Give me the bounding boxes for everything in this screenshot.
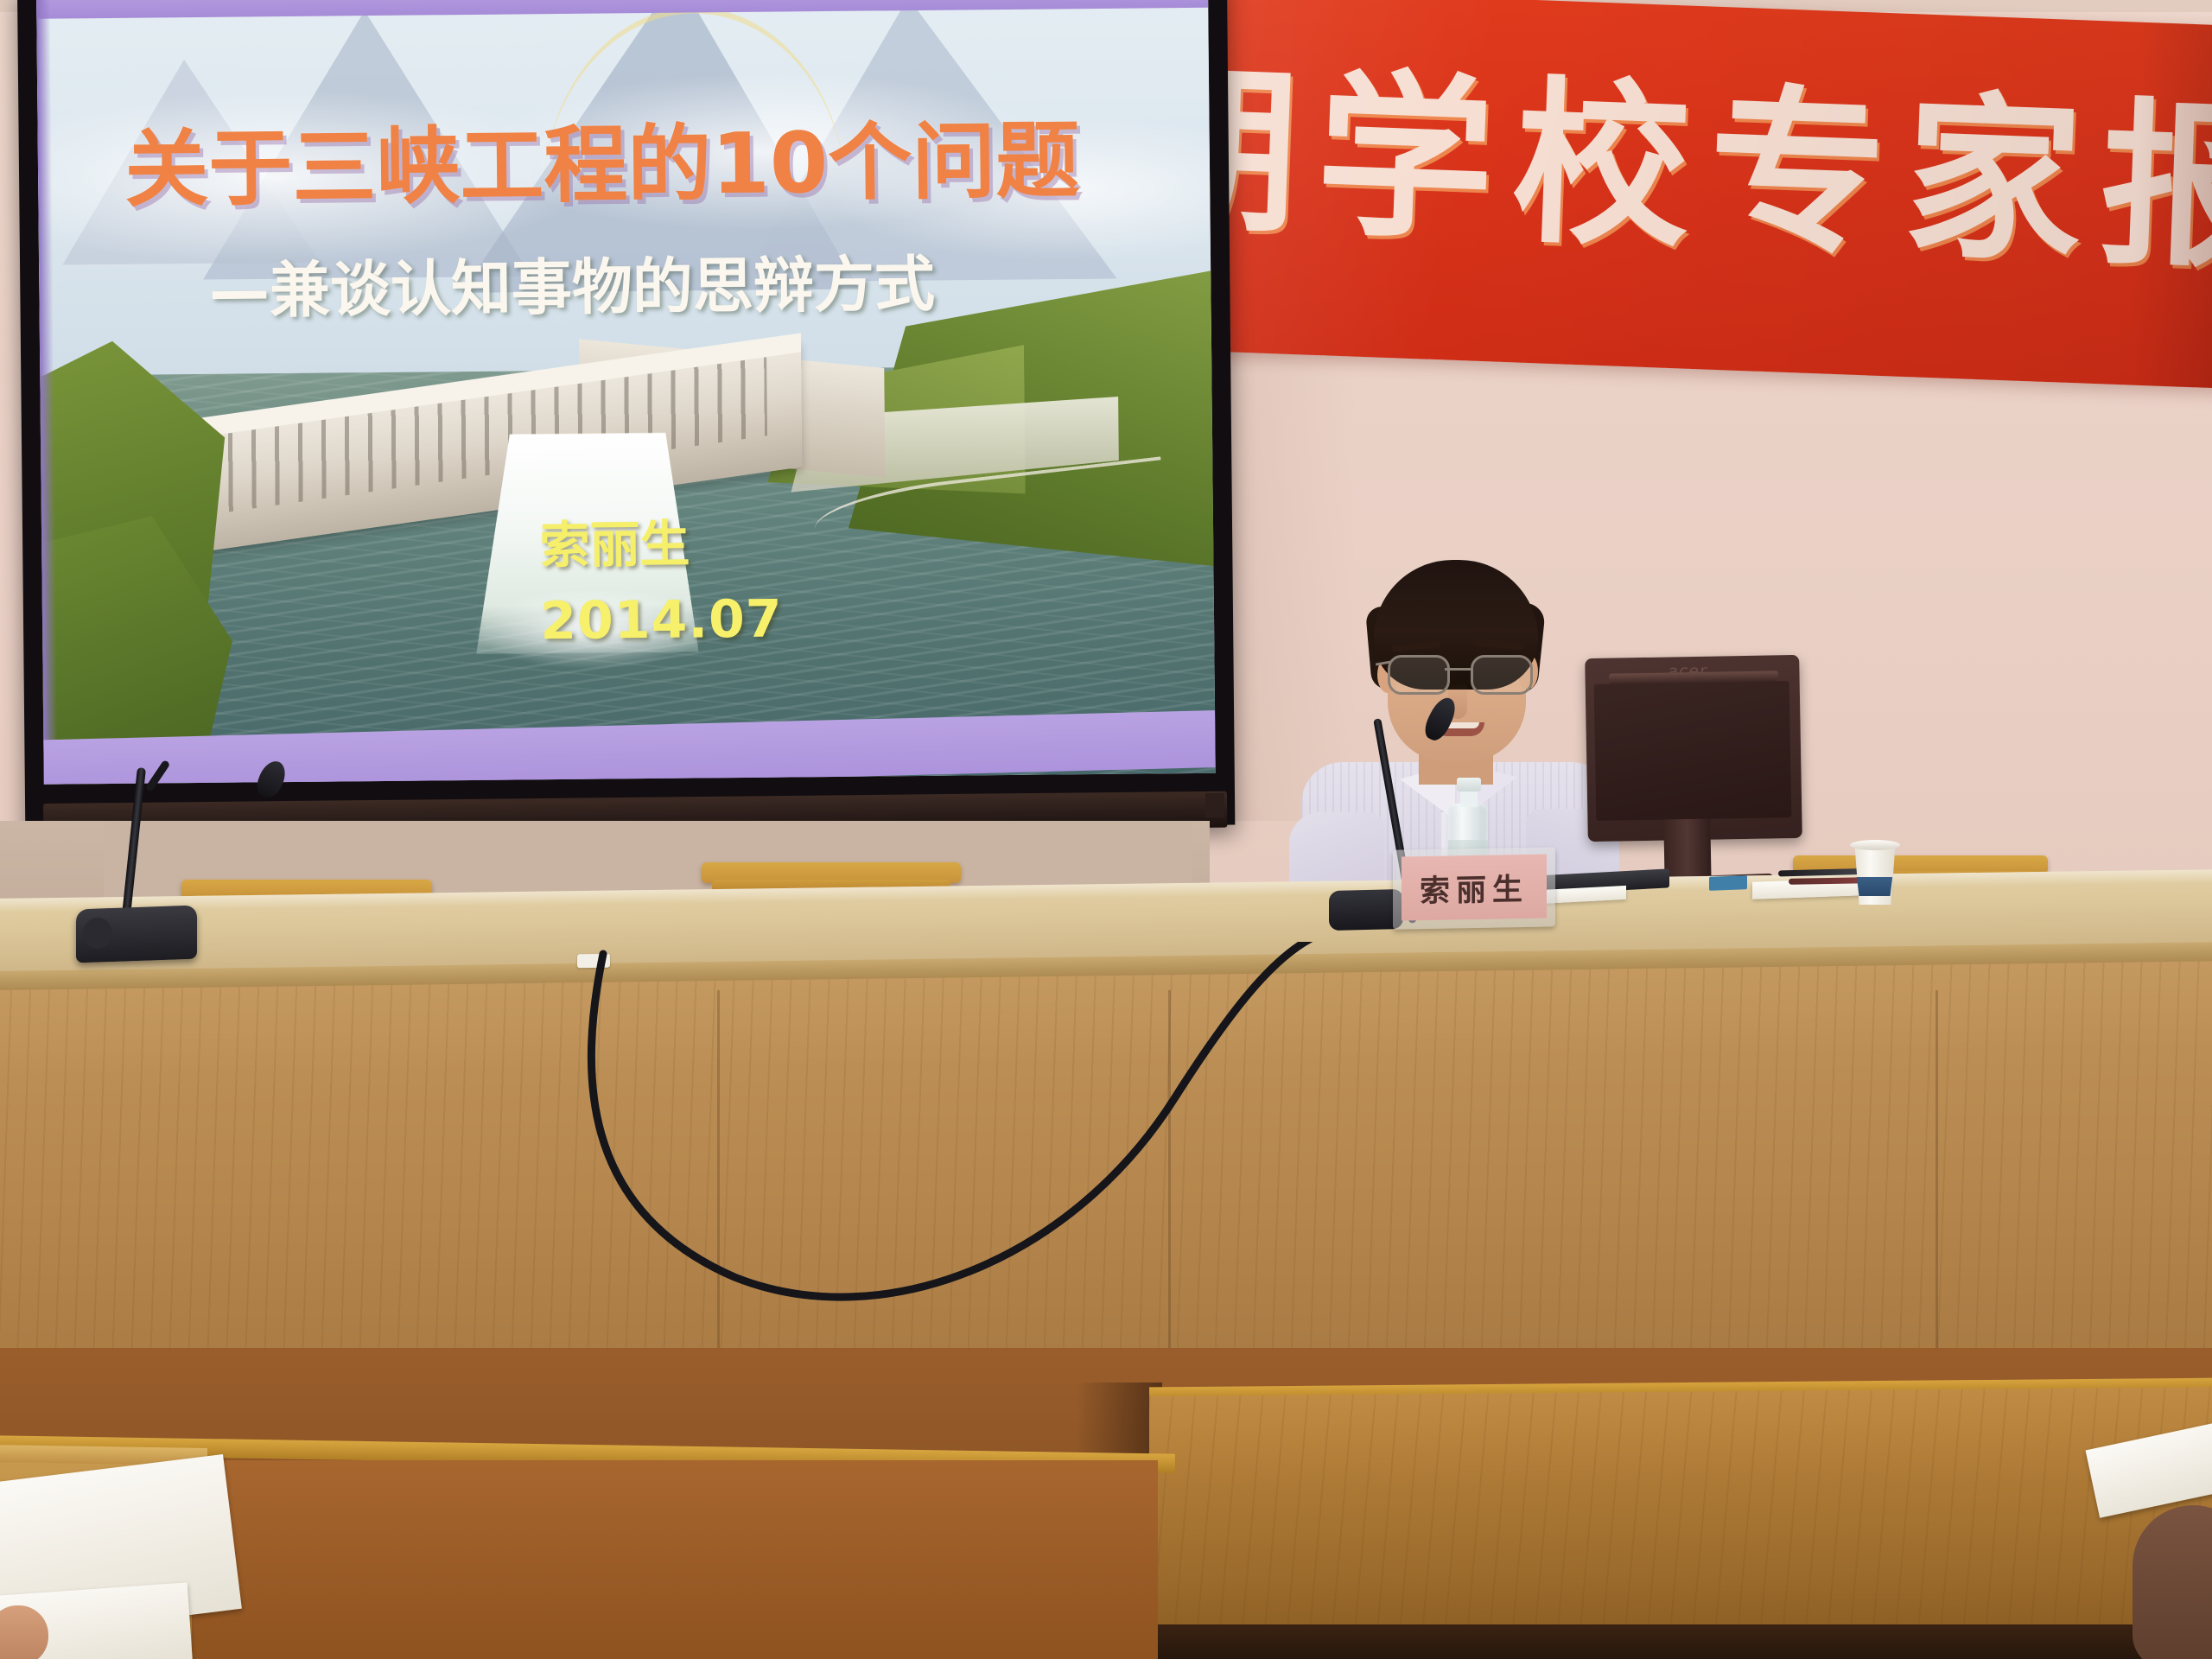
slide-date: 2014.07	[540, 588, 783, 652]
water-bottle-cap	[1457, 778, 1481, 791]
eyeglass-lens-left	[1388, 655, 1450, 695]
eyeglass-bridge	[1445, 668, 1471, 671]
projector-screen: 关于三峡工程的10个问题 —兼谈认知事物的思辩方式 索丽生 2014.07	[17, 0, 1235, 836]
banner-text: 期学校专家报告	[1145, 61, 2212, 289]
cable-path	[591, 942, 1322, 1297]
slide-title: 关于三峡工程的10个问题	[124, 118, 1156, 214]
lecture-hall-photo: 期学校专家报告	[0, 0, 2212, 1659]
audience-person-head	[2133, 1505, 2212, 1659]
paper-cup-band	[1855, 877, 1894, 896]
desk-blue-item	[1709, 875, 1747, 891]
nameplate-text: 索丽生	[1420, 864, 1529, 910]
floor-strip	[1149, 1624, 2212, 1659]
red-banner: 期学校专家报告	[1145, 0, 2212, 389]
presentation-slide: 关于三峡工程的10个问题 —兼谈认知事物的思辩方式 索丽生 2014.07	[36, 0, 1216, 785]
audio-cable	[518, 942, 1434, 1313]
slide-author: 索丽生	[539, 503, 690, 577]
screen-roller-cap	[1205, 793, 1224, 817]
desk-panel-seam	[1935, 990, 1938, 1396]
foreground-bench-right	[1149, 1387, 2212, 1659]
microphone-base-knob	[83, 918, 112, 949]
monitor-screen	[1594, 681, 1792, 821]
paper-cup-rim	[1850, 840, 1900, 850]
slide-subtitle: —兼谈认知事物的思辩方式	[209, 251, 1194, 323]
banner-fold-shadow	[2129, 22, 2212, 389]
eyeglass-lens-right	[1471, 655, 1533, 695]
nameplate: 索丽生	[1402, 855, 1547, 921]
